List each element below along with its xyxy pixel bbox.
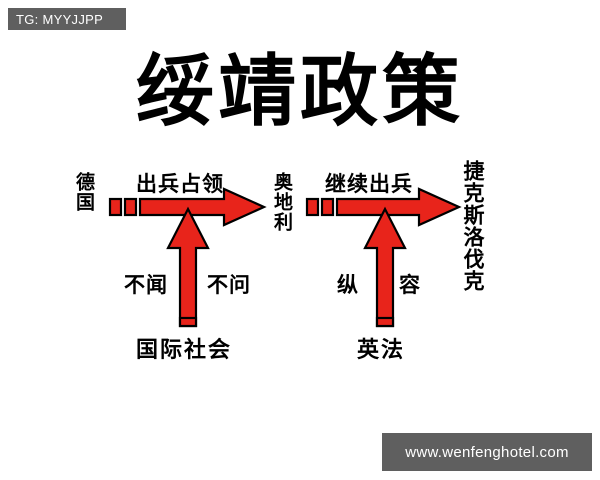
arrow-uk-france-up: [355, 206, 415, 328]
arrow-caption-connive-right: 容: [399, 269, 421, 299]
telegram-watermark-badge: TG: MYYJJPP: [8, 8, 126, 30]
arrow-caption-ignore-left: 不闻: [124, 269, 168, 299]
node-label-austria: 奥地利: [272, 172, 291, 232]
node-label-uk-france: 英法: [357, 332, 405, 364]
diagram-canvas: TG: MYYJJPP 绥靖政策 德国 奥地利 捷克斯: [0, 0, 600, 480]
arrow-caption-continue-troops: 继续出兵: [325, 168, 413, 198]
node-label-germany: 德国: [74, 172, 93, 212]
arrow-caption-connive-left: 纵: [337, 269, 359, 299]
node-label-international-society: 国际社会: [136, 332, 232, 364]
arrow-international-society-up: [158, 206, 218, 328]
arrow-caption-ignore-right: 不问: [207, 269, 251, 299]
node-label-czechoslovakia: 捷克斯洛伐克: [463, 160, 484, 292]
arrow-caption-occupy: 出兵占领: [136, 168, 224, 198]
page-title: 绥靖政策: [0, 44, 600, 140]
website-watermark-badge: www.wenfenghotel.com: [382, 433, 592, 471]
